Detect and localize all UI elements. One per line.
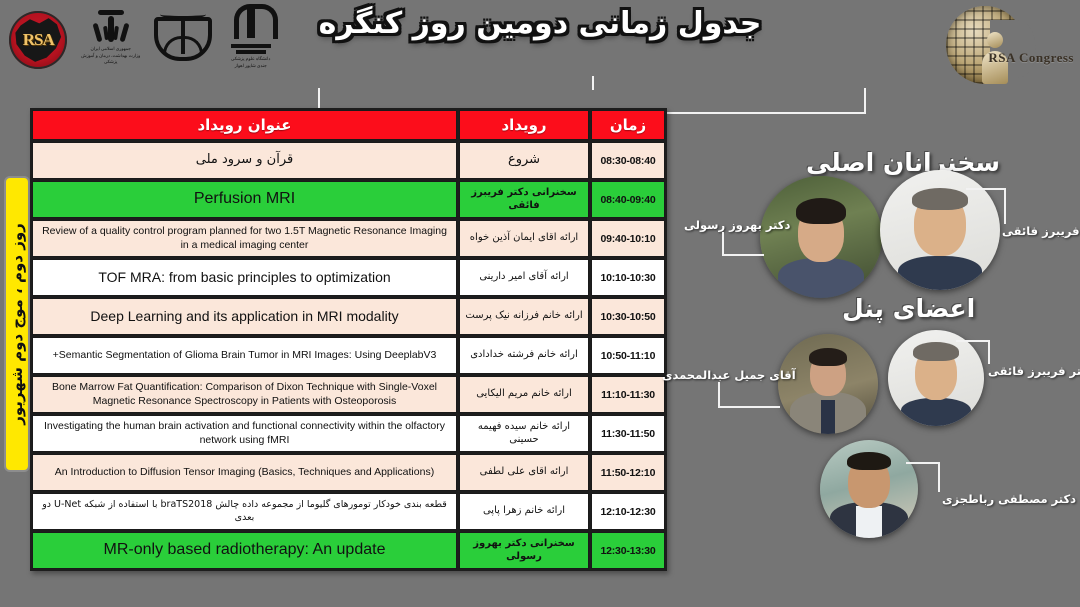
table-header-row: زمان رویداد عنوان رویداد [32, 110, 665, 140]
cell-time: 11:50-12:10 [591, 454, 665, 491]
table-row: 08:40-09:40سخنرانی دکتر فریبرز فائقیPerf… [32, 181, 665, 218]
table-row: 11:10-11:30ارائه خانم مریم الیکاییBone M… [32, 376, 665, 413]
cell-time: 10:10-10:30 [591, 259, 665, 296]
book-shape-icon [154, 17, 212, 61]
cell-title: Bone Marrow Fat Quantification: Comparis… [32, 376, 457, 413]
cell-title: Investigating the human brain activation… [32, 415, 457, 452]
column-header-event: رویداد [459, 110, 589, 140]
table-row: 08:30-08:40شروعقرآن و سرود ملی [32, 142, 665, 179]
table-row: 11:30-11:50ارائه خانم سیده فهیمه حسینیIn… [32, 415, 665, 452]
rsa-logo-text: RSA [23, 30, 54, 50]
cell-title: An Introduction to Diffusion Tensor Imag… [32, 454, 457, 491]
cell-title: قرآن و سرود ملی [32, 142, 457, 179]
ministry-logo-caption: جمهوری اسلامی ایران وزارت بهداشت، درمان … [78, 46, 142, 66]
portrait-shirt [856, 506, 882, 538]
speaker-label-rasouli: دکتر بهروز رسولی [684, 218, 790, 232]
university-logo-caption: دانشگاه علوم پزشکی جندی شاپور اهواز [231, 56, 270, 69]
emblem-outer-right-icon [119, 23, 129, 43]
table-row: 12:30-13:30سخنرانی دکتر بهروز رسولیMR-on… [32, 532, 665, 569]
cell-event: ارائه اقای ایمان آذین خواه [459, 220, 589, 257]
portrait-torso [778, 258, 864, 298]
connector-line-rasouli [722, 232, 764, 256]
emblem-inner-right-icon [113, 26, 119, 40]
logo-bar: دانشگاه علوم پزشکی جندی شاپور اهواز جمهو… [8, 4, 278, 80]
connector-line-abdolmohammadi [718, 382, 780, 408]
cell-time: 08:30-08:40 [591, 142, 665, 179]
cell-time: 10:50-11:10 [591, 337, 665, 374]
cell-title: MR-only based radiotherapy: An update [32, 532, 457, 569]
portrait-hair [847, 452, 891, 470]
portrait-hair [796, 198, 846, 224]
portrait-torso [898, 256, 982, 290]
portrait-mostafa-robatjazi [820, 440, 918, 538]
jundishapur-university-logo-icon: دانشگاه علوم پزشکی جندی شاپور اهواز [223, 4, 278, 76]
table-row: 10:30-10:50ارائه خانم فرزانه نیک پرستDee… [32, 298, 665, 335]
table-row: 12:10-12:30ارائه خانم زهرا پاپیقطعه بندی… [32, 493, 665, 530]
cell-title: Perfusion MRI [32, 181, 457, 218]
cell-event: سخنرانی دکتر فریبرز فائقی [459, 181, 589, 218]
connector-line-faeghi-panel [956, 340, 990, 364]
cell-event: ارائه خانم فرزانه نیک پرست [459, 298, 589, 335]
schedule-table-body: 08:30-08:40شروعقرآن و سرود ملی08:40-09:4… [32, 142, 665, 569]
open-book-logo-icon [153, 4, 213, 74]
schedule-table-head: زمان رویداد عنوان رویداد [32, 110, 665, 140]
cell-time: 12:30-13:30 [591, 532, 665, 569]
panel-members-heading: اعضای پنل [842, 294, 975, 323]
rsa-circle-icon: RSA [9, 11, 67, 69]
cell-event: ارائه اقای علی لطفی [459, 454, 589, 491]
book-arc-icon [163, 36, 203, 54]
cell-event: ارائه خانم سیده فهیمه حسینی [459, 415, 589, 452]
iran-emblem-mark-icon [89, 4, 133, 44]
portrait-hair [809, 348, 847, 366]
panel-label-robatjazi: دکتر مصطفی رباطجزی [942, 492, 1076, 506]
speaker-label-faeghi: دکتر فریبرز فائقی [1002, 224, 1080, 238]
table-row: 10:10-10:30ارائه آقای امیر دارینیTOF MRA… [32, 259, 665, 296]
table-row: 10:50-11:10ارائه خانم فرشته خدادادیSeman… [32, 337, 665, 374]
university-mark-icon [230, 4, 272, 46]
cell-title: TOF MRA: from basic principles to optimi… [32, 259, 457, 296]
portrait-behrooz-rasouli [760, 176, 882, 298]
cell-event: ارائه آقای امیر دارینی [459, 259, 589, 296]
cell-title: Review of a quality control program plan… [32, 220, 457, 257]
globe-person-logo-icon: RSA Congress [936, 2, 1076, 88]
connector-line-robatjazi [906, 462, 940, 492]
table-row: 11:50-12:10ارائه اقای علی لطفیAn Introdu… [32, 454, 665, 491]
globe-icon [946, 6, 1024, 84]
cell-time: 11:10-11:30 [591, 376, 665, 413]
schedule-table: زمان رویداد عنوان رویداد 08:30-08:40شروع… [30, 108, 667, 571]
portrait-torso [901, 398, 971, 426]
portrait-hair [913, 342, 959, 361]
column-header-time: زمان [591, 110, 665, 140]
rsa-society-logo-icon: RSA [8, 4, 68, 76]
cell-time: 11:30-11:50 [591, 415, 665, 452]
cell-event: سخنرانی دکتر بهروز رسولی [459, 532, 589, 569]
cell-title: Deep Learning and its application in MRI… [32, 298, 457, 335]
cell-time: 10:30-10:50 [591, 298, 665, 335]
table-row: 09:40-10:10ارائه اقای ایمان آذین خواهRev… [32, 220, 665, 257]
day-band-label: روز دوم ، موج دوم شهریور [8, 223, 26, 425]
day-band: روز دوم ، موج دوم شهریور [4, 176, 30, 472]
portrait-hair [912, 188, 968, 210]
connector-line-faeghi [966, 188, 1006, 224]
cell-time: 09:40-10:10 [591, 220, 665, 257]
portrait-tie [821, 400, 835, 434]
cell-title: Semantic Segmentation of Glioma Brain Tu… [32, 337, 457, 374]
cell-event: شروع [459, 142, 589, 179]
cell-event: ارائه خانم فرشته خدادادی [459, 337, 589, 374]
emblem-sword-icon [98, 10, 124, 15]
cell-time: 12:10-12:30 [591, 493, 665, 530]
iran-emblem-logo-icon: جمهوری اسلامی ایران وزارت بهداشت، درمان … [78, 4, 142, 78]
column-header-title: عنوان رویداد [32, 110, 457, 140]
book-top-icon [160, 10, 206, 19]
cell-title: قطعه بندی خودکار تومورهای گلیوما از مجمو… [32, 493, 457, 530]
cell-time: 08:40-09:40 [591, 181, 665, 218]
cell-event: ارائه خانم مریم الیکایی [459, 376, 589, 413]
university-cap-icon [236, 50, 266, 54]
congress-logo-label: RSA Congress [988, 50, 1074, 66]
panel-label-abdolmohammadi: آقای جمیل عبدالمحمدی [662, 368, 796, 382]
cell-event: ارائه خانم زهرا پاپی [459, 493, 589, 530]
portrait-jamil-abdolmohammadi [778, 334, 878, 434]
panel-label-faeghi: دکتر فریبرز فائقی [988, 364, 1080, 378]
emblem-outer-left-icon [92, 23, 102, 43]
